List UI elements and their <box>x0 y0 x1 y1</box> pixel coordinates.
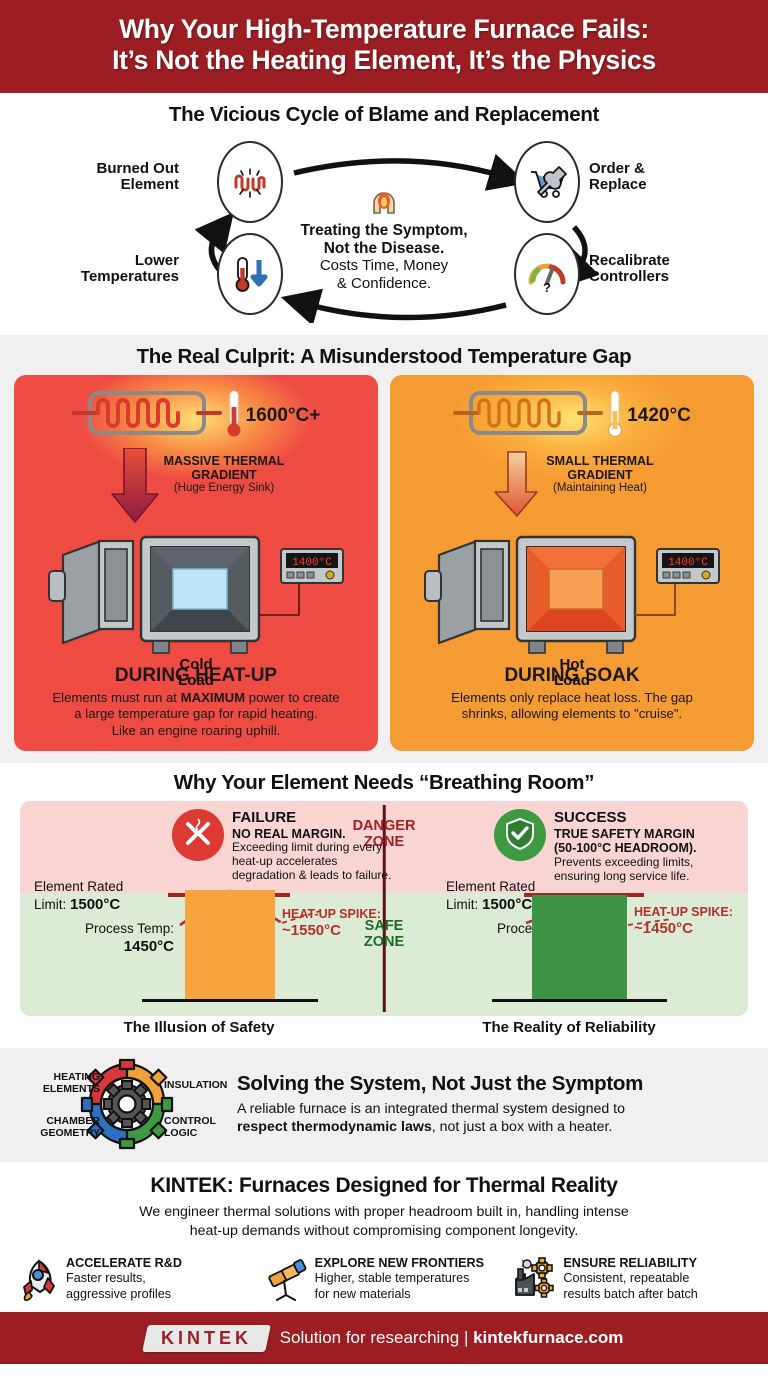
right-process-bar <box>532 895 627 1000</box>
gradient-label-soak: SMALL THERMAL GRADIENT (Maintaining Heat… <box>546 454 653 494</box>
telescope-icon <box>263 1256 309 1302</box>
page-header: Why Your High-Temperature Furnace Fails:… <box>0 0 768 93</box>
gear-label-chamber-geometry: CHAMBER GEOMETRY <box>22 1116 100 1139</box>
feature-title: EXPLORE NEW FRONTIERS <box>315 1256 484 1270</box>
right-spike-label: HEAT-UP SPIKE: ~1450°C <box>634 905 748 938</box>
thermometer-down-arrow-icon <box>229 254 271 294</box>
center-text-line-1: Costs Time, Money <box>269 257 499 275</box>
center-bold-line-1: Treating the Symptom, <box>269 222 499 240</box>
panel-caption-soak: DURING SOAK <box>398 665 746 687</box>
feature-desc-line-1: Consistent, repeatable <box>563 1271 697 1286</box>
rocket-icon <box>14 1256 60 1302</box>
element-temp-heatup: 1600°C+ <box>246 405 321 427</box>
system-text-block: Solving the System, Not Just the Symptom… <box>237 1072 752 1137</box>
cta-heading: KINTEK: Furnaces Designed for Thermal Re… <box>16 1174 752 1198</box>
feature-desc-line-2: aggressive profiles <box>66 1287 182 1302</box>
feature-explore-new-frontiers: EXPLORE NEW FRONTIERS Higher, stable tem… <box>263 1256 506 1302</box>
page-title: Why Your High-Temperature Furnace Fails:… <box>18 14 750 77</box>
heating-element-row-soak: 1420°C <box>398 385 746 448</box>
feature-desc-line-2: results batch after batch <box>563 1287 697 1302</box>
infographic-page: Why Your High-Temperature Furnace Fails:… <box>0 0 768 1376</box>
breathing-section-title: Why Your Element Needs “Breathing Room” <box>14 771 754 795</box>
thermometer-icon-heatup <box>226 389 242 444</box>
gauge-question-icon: ? <box>525 254 569 294</box>
page-footer: KINTEK Solution for researching | kintek… <box>0 1312 768 1364</box>
cta-body: We engineer thermal solutions with prope… <box>16 1203 752 1240</box>
chart-captions: The Illusion of Safety The Reality of Re… <box>14 1019 754 1036</box>
feature-desc-line-1: Faster results, <box>66 1271 182 1286</box>
heating-element-icon <box>72 385 222 448</box>
system-body: A reliable furnace is an integrated ther… <box>237 1100 752 1137</box>
title-line-2: It’s Not the Heating Element, It’s the P… <box>18 45 750 76</box>
cycle-label-lower-temperatures: Lower Temperatures <box>0 253 179 287</box>
cycle-node-recalibrate-controllers[interactable]: ? <box>514 233 580 315</box>
element-temp-soak: 1420°C <box>627 405 691 427</box>
gear-label-insulation: INSULATION <box>164 1080 234 1092</box>
cta-section: KINTEK: Furnaces Designed for Thermal Re… <box>0 1162 768 1248</box>
controller-display-heatup: 1400°C <box>292 557 332 569</box>
headroom-chart: DANGER ZONE SAFE ZONE <box>20 801 748 1016</box>
cycle-center-message: Treating the Symptom, Not the Disease. C… <box>269 185 499 294</box>
feature-title: ENSURE RELIABILITY <box>563 1256 697 1270</box>
gear-cluster: HEATING ELEMENTS INSULATION CHAMBER GEOM… <box>16 1058 231 1150</box>
feature-list: ACCELERATE R&D Faster results, aggressiv… <box>0 1248 768 1312</box>
footer-website[interactable]: kintekfurnace.com <box>473 1328 623 1347</box>
heating-element-icon-soak <box>453 385 603 448</box>
cycle-label-recalibrate-controllers: Recalibrate Controllers <box>589 253 768 287</box>
vicious-cycle-section: The Vicious Cycle of Blame and Replaceme… <box>0 93 768 335</box>
left-baseline <box>142 999 318 1002</box>
kintek-logo-text: KINTEK <box>161 1328 252 1349</box>
panel-desc-heatup: Elements must run at MAXIMUM power to cr… <box>22 690 370 740</box>
cycle-section-title: The Vicious Cycle of Blame and Replaceme… <box>14 103 754 127</box>
cycle-node-order-replace[interactable] <box>514 141 580 223</box>
broken-heating-element-icon <box>229 163 271 201</box>
cycle-label-order-replace: Order & Replace <box>589 161 768 195</box>
feature-title: ACCELERATE R&D <box>66 1256 182 1270</box>
heating-element-row-heatup: 1600°C+ <box>22 385 370 448</box>
footer-tagline: Solution for researching | kintekfurnace… <box>280 1328 624 1348</box>
panel-caption-heatup: DURING HEAT-UP <box>22 665 370 687</box>
center-bold-line-2: Not the Disease. <box>269 240 499 258</box>
furnace-illustration-soak: 1400°C <box>398 515 746 665</box>
thermometer-icon-soak <box>607 389 623 444</box>
cycle-diagram: Burned Out Element Order & Replace <box>14 133 754 323</box>
panel-during-soak: 1420°C SMALL THERMAL GRADIENT <box>390 375 754 752</box>
factory-gear-icon <box>511 1256 557 1302</box>
furnace-panels: 1600°C+ MASSIVE THERMAL GRADIENT <box>14 375 754 752</box>
svg-text:?: ? <box>543 280 551 294</box>
title-line-1: Why Your High-Temperature Furnace Fails: <box>119 14 649 44</box>
gear-label-heating-elements: HEATING ELEMENTS <box>28 1072 100 1095</box>
feature-desc-line-1: Higher, stable temperatures <box>315 1271 484 1286</box>
system-section: HEATING ELEMENTS INSULATION CHAMBER GEOM… <box>0 1048 768 1162</box>
feature-ensure-reliability: ENSURE RELIABILITY Consistent, repeatabl… <box>511 1256 754 1302</box>
breathing-room-section: Why Your Element Needs “Breathing Room” … <box>0 763 768 1048</box>
panel-desc-soak: Elements only replace heat loss. The gap… <box>398 690 746 723</box>
right-chart-caption: The Reality of Reliability <box>384 1019 754 1036</box>
kintek-logo[interactable]: KINTEK <box>142 1325 271 1352</box>
panel-during-heat-up: 1600°C+ MASSIVE THERMAL GRADIENT <box>14 375 378 752</box>
right-baseline <box>492 999 667 1002</box>
furnace-glow-icon <box>367 204 401 221</box>
chart-half-success: SUCCESS TRUE SAFETY MARGIN (50-100°C HEA… <box>384 801 748 1016</box>
feature-accelerate-rd: ACCELERATE R&D Faster results, aggressiv… <box>14 1256 257 1302</box>
left-process-bar <box>185 890 275 1000</box>
gear-label-control-logic: CONTROL LOGIC <box>164 1116 234 1139</box>
feature-desc-line-2: for new materials <box>315 1287 484 1302</box>
gradient-label-heatup: MASSIVE THERMAL GRADIENT (Huge Energy Si… <box>164 454 285 494</box>
shopping-cart-wrench-icon <box>526 163 568 201</box>
left-chart-caption: The Illusion of Safety <box>14 1019 384 1036</box>
furnace-illustration-heatup: 1400°C <box>22 515 370 665</box>
controller-display-soak: 1400°C <box>668 557 708 569</box>
cycle-label-burned-out-element: Burned Out Element <box>0 161 179 195</box>
center-text-line-2: & Confidence. <box>269 275 499 293</box>
system-heading: Solving the System, Not Just the Symptom <box>237 1072 752 1096</box>
chart-half-failure: FAILURE NO REAL MARGIN. Exceeding limit … <box>20 801 384 1016</box>
temperature-gap-section: The Real Culprit: A Misunderstood Temper… <box>0 335 768 764</box>
gap-section-title: The Real Culprit: A Misunderstood Temper… <box>14 345 754 369</box>
